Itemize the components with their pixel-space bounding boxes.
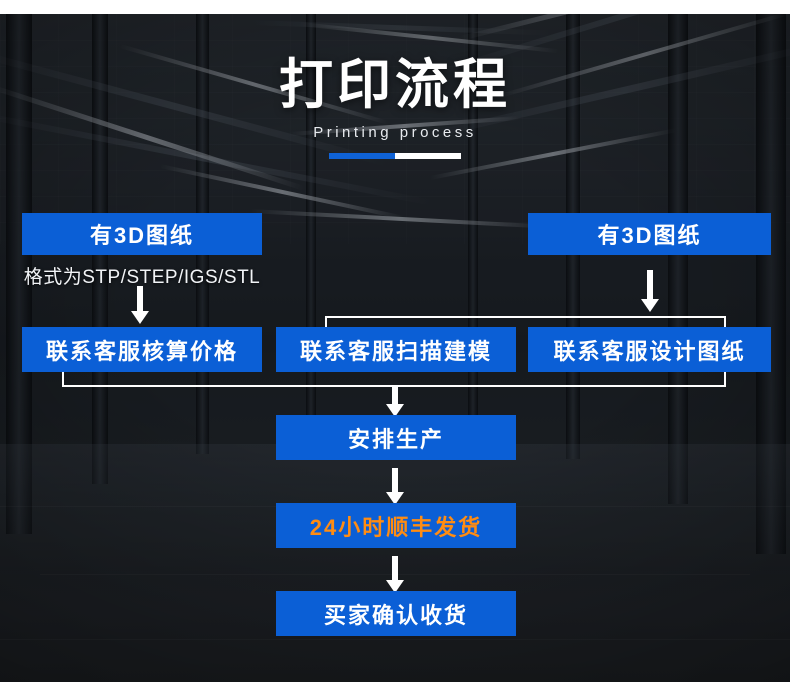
flow-box-production[interactable]: 安排生产: [276, 415, 516, 460]
title-underline-blue: [329, 153, 395, 159]
flow-box-buyer-confirm[interactable]: 买家确认收货: [276, 591, 516, 636]
flow-box-top-right[interactable]: 有3D图纸: [528, 213, 771, 255]
printing-process-infographic: 打印流程 Printing process 有3D图纸 有3D图纸 格式为STP…: [0, 0, 790, 696]
split-bracket-left-stub: [325, 316, 327, 327]
split-bracket-icon: [325, 316, 726, 318]
down-arrow-icon: [383, 556, 407, 593]
split-bracket-right-stub: [724, 316, 726, 327]
down-arrow-icon: [383, 386, 407, 417]
merge-bracket-left-stub: [62, 372, 64, 386]
page-title: 打印流程: [0, 58, 790, 112]
flow-box-design-drawing[interactable]: 联系客服设计图纸: [528, 327, 771, 372]
flow-box-shipping[interactable]: 24小时顺丰发货: [276, 503, 516, 548]
format-note: 格式为STP/STEP/IGS/STL: [22, 262, 262, 289]
down-arrow-icon: [383, 468, 407, 505]
flow-box-quote[interactable]: 联系客服核算价格: [22, 327, 262, 372]
page-subtitle: Printing process: [0, 124, 790, 141]
down-arrow-icon: [638, 270, 662, 312]
flow-box-top-left[interactable]: 有3D图纸: [22, 213, 262, 255]
down-arrow-icon: [128, 286, 152, 324]
title-underline-white: [395, 153, 461, 159]
merge-bracket-right-stub: [724, 372, 726, 386]
flow-box-scan-model[interactable]: 联系客服扫描建模: [276, 327, 516, 372]
